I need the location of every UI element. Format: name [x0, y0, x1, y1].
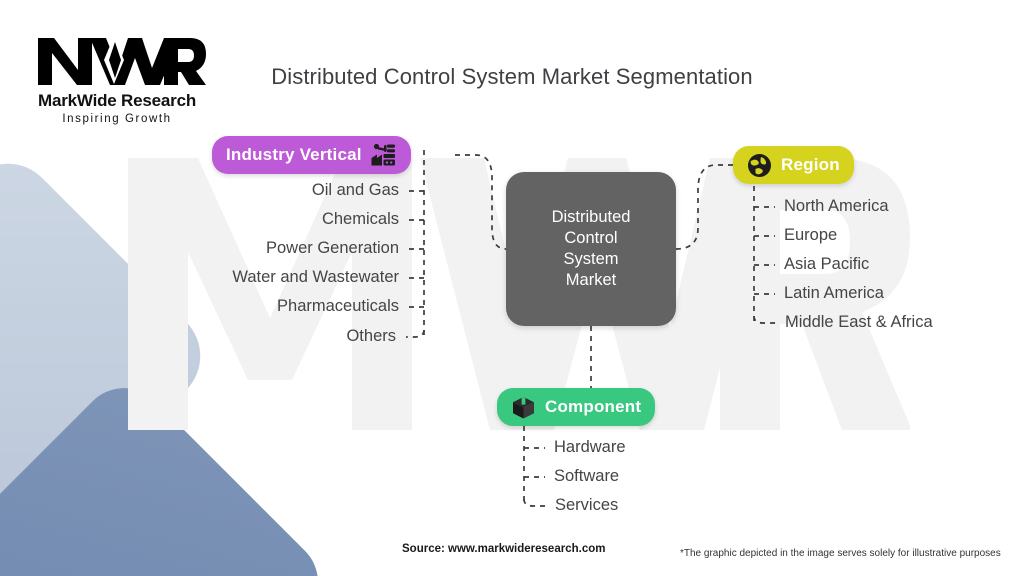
wire-region-to-center [676, 165, 733, 249]
factory-robot-icon [371, 143, 397, 167]
page-title: Distributed Control System Market Segmen… [0, 64, 1024, 90]
cube-icon [511, 395, 536, 420]
source-text: Source: www.markwideresearch.com [402, 543, 605, 555]
leaf-region-2: Asia Pacific [784, 255, 869, 274]
leaf-region-4: Middle East & Africa [785, 313, 933, 332]
branch-badge-industry-vertical[interactable]: Industry Vertical [212, 136, 411, 174]
decorative-square-light [0, 144, 220, 568]
brand-tagline: Inspiring Growth [28, 113, 206, 125]
leaf-component-1: Software [554, 467, 619, 486]
leaf-industry-2: Power Generation [266, 239, 399, 258]
leaf-industry-3: Water and Wastewater [232, 268, 399, 287]
infographic-canvas: MarkWide Research Inspiring Growth Distr… [0, 0, 1024, 576]
branch-label-region: Region [781, 155, 840, 175]
leaf-industry-4: Pharmaceuticals [277, 297, 399, 316]
wire-region-leaf-4 [754, 316, 776, 323]
leaf-region-1: Europe [784, 226, 837, 245]
center-node: Distributed Control System Market [506, 172, 676, 326]
branch-label-industry-vertical: Industry Vertical [226, 145, 362, 165]
branch-badge-component[interactable]: Component [497, 388, 655, 426]
wire-component-leaf-2 [524, 499, 546, 506]
branch-label-component: Component [545, 397, 641, 417]
wire-industry-to-center [455, 155, 506, 249]
leaf-region-3: Latin America [784, 284, 884, 303]
center-node-label: Distributed Control System Market [552, 207, 631, 291]
brand-name: MarkWide Research [28, 91, 206, 111]
leaf-industry-5: Others [346, 327, 396, 346]
leaf-industry-1: Chemicals [322, 210, 399, 229]
leaf-region-0: North America [784, 197, 889, 216]
decorative-square-dark [0, 370, 336, 576]
leaf-component-0: Hardware [554, 438, 626, 457]
leaf-industry-0: Oil and Gas [312, 181, 399, 200]
globe-icon [747, 153, 772, 178]
wire-industry-leaf-5 [406, 330, 424, 337]
disclaimer-text: *The graphic depicted in the image serve… [680, 548, 1001, 559]
branch-badge-region[interactable]: Region [733, 146, 854, 184]
leaf-component-2: Services [555, 496, 618, 515]
